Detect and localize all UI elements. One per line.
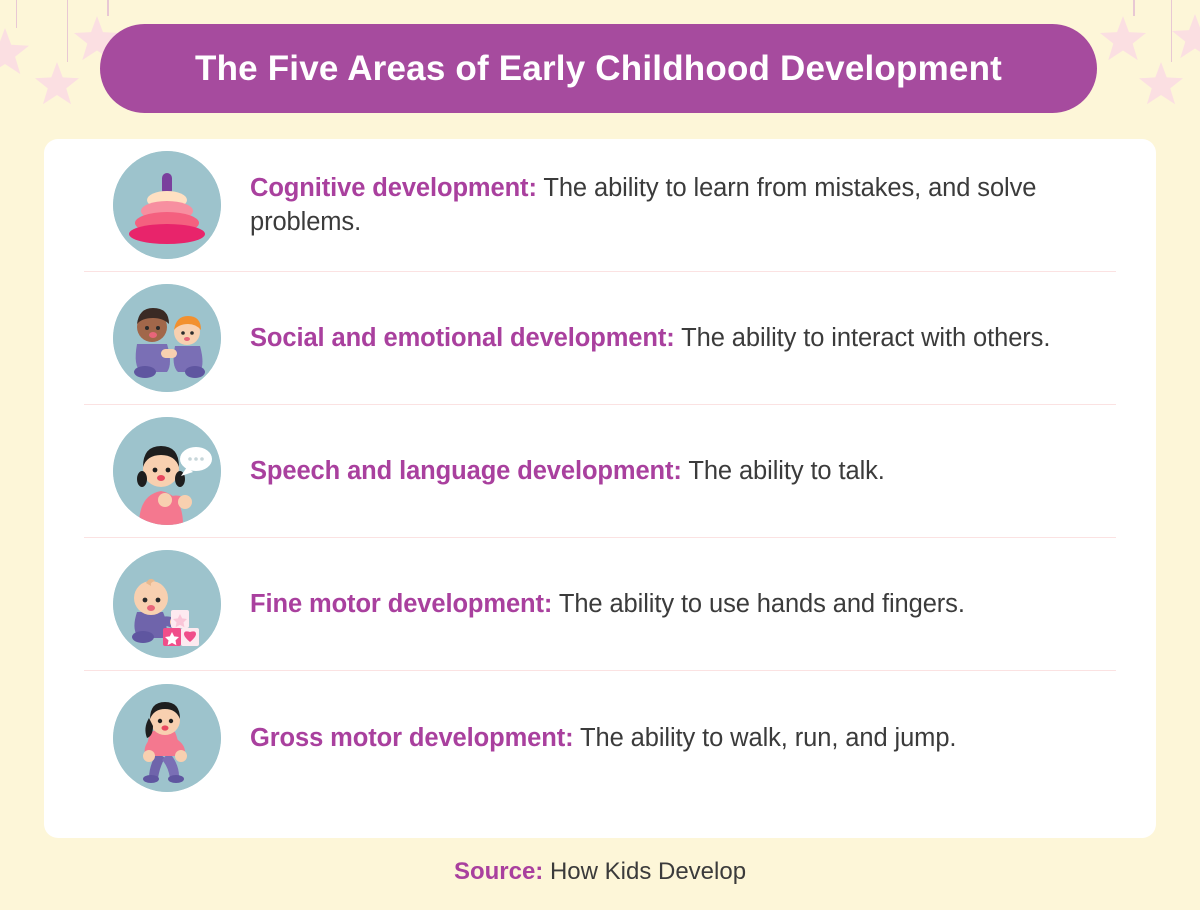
- page-title: The Five Areas of Early Childhood Develo…: [195, 49, 1002, 89]
- star-string: [16, 0, 18, 28]
- text-cell: Fine motor development: The ability to u…: [250, 587, 1116, 621]
- area-description: The ability to use hands and fingers.: [559, 590, 965, 618]
- running-girl-icon: [113, 684, 221, 792]
- area-term: Cognitive development:: [250, 174, 537, 202]
- area-text: Cognitive development: The ability to le…: [250, 171, 1086, 239]
- text-cell: Speech and language development: The abi…: [250, 454, 1116, 488]
- list-item: Cognitive development: The ability to le…: [84, 139, 1116, 272]
- title-banner: The Five Areas of Early Childhood Develo…: [100, 24, 1097, 113]
- star-top-right-2: [1160, 0, 1183, 106]
- star-top-left-2: [56, 0, 79, 106]
- source-label: Source:: [454, 858, 543, 885]
- text-cell: Social and emotional development: The ab…: [250, 321, 1116, 355]
- source-footer: Source: How Kids Develop: [0, 858, 1200, 886]
- star-top-right-1: [1122, 0, 1146, 62]
- area-term: Gross motor development:: [250, 724, 574, 752]
- area-term: Social and emotional development:: [250, 324, 675, 352]
- star-icon: [0, 28, 29, 76]
- list-item: Gross motor development: The ability to …: [84, 671, 1116, 804]
- star-string: [67, 0, 69, 62]
- star-icon: [1172, 14, 1200, 60]
- two-children-shaking-hands-icon: [113, 284, 221, 392]
- area-text: Fine motor development: The ability to u…: [250, 587, 1086, 621]
- star-string: [1133, 0, 1135, 16]
- area-term: Speech and language development:: [250, 457, 682, 485]
- list-item: Social and emotional development: The ab…: [84, 272, 1116, 405]
- baby-with-blocks-icon: [113, 550, 221, 658]
- area-description: The ability to walk, run, and jump.: [580, 724, 956, 752]
- area-description: The ability to talk.: [688, 457, 884, 485]
- star-icon: [35, 62, 79, 106]
- area-text: Speech and language development: The abi…: [250, 454, 1086, 488]
- area-text: Social and emotional development: The ab…: [250, 321, 1086, 355]
- girl-with-speech-bubble-icon: [113, 417, 221, 525]
- star-top-left-1: [4, 0, 29, 76]
- icon-cell: [84, 151, 250, 259]
- icon-cell: [84, 417, 250, 525]
- area-term: Fine motor development:: [250, 590, 552, 618]
- icon-cell: [84, 284, 250, 392]
- area-description: The ability to interact with others.: [681, 324, 1050, 352]
- star-string: [107, 0, 109, 16]
- source-value: How Kids Develop: [550, 858, 746, 885]
- area-text: Gross motor development: The ability to …: [250, 721, 1086, 755]
- text-cell: Cognitive development: The ability to le…: [250, 171, 1116, 239]
- text-cell: Gross motor development: The ability to …: [250, 721, 1116, 755]
- star-icon: [1100, 16, 1146, 62]
- stacking-rings-toy-icon: [113, 151, 221, 259]
- list-item: Fine motor development: The ability to u…: [84, 538, 1116, 671]
- list-item: Speech and language development: The abi…: [84, 405, 1116, 538]
- icon-cell: [84, 684, 250, 792]
- icon-cell: [84, 550, 250, 658]
- areas-list-card: Cognitive development: The ability to le…: [44, 139, 1156, 838]
- star-icon: [1139, 62, 1183, 106]
- star-string: [1171, 0, 1173, 62]
- star-top-right-3: [1194, 0, 1200, 60]
